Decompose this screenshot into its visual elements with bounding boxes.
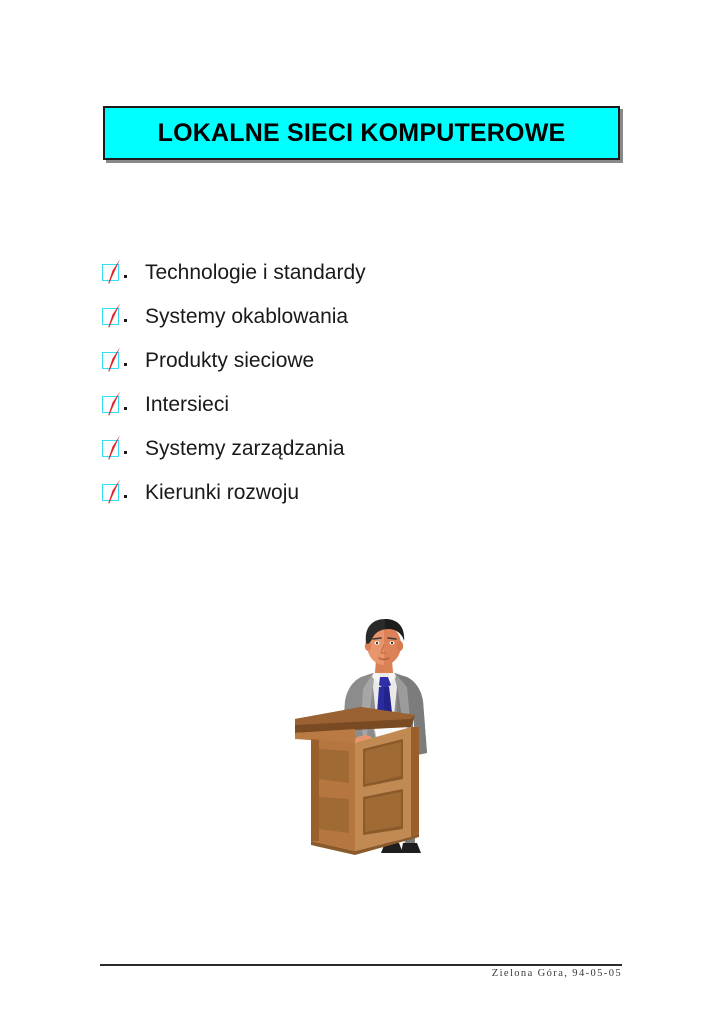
check-mark-icon xyxy=(100,302,126,332)
agenda-item-label: Kierunki rozwoju xyxy=(145,478,299,507)
check-mark-icon xyxy=(100,478,126,508)
list-item: Kierunki rozwoju xyxy=(100,478,620,522)
bullet-period xyxy=(124,495,127,498)
check-mark-icon xyxy=(100,258,126,288)
page-title: LOKALNE SIECI KOMPUTEROWE xyxy=(158,121,566,146)
agenda-item-label: Systemy zarządzania xyxy=(145,434,345,463)
list-item: Technologie i standardy xyxy=(100,258,620,302)
agenda-item-label: Systemy okablowania xyxy=(145,302,348,331)
bullet-period xyxy=(124,407,127,410)
checkbox-check-icon xyxy=(100,434,145,464)
agenda-list: Technologie i standardy Systemy okablowa… xyxy=(100,258,620,522)
footer-location-date: Zielona Góra, 94-05-05 xyxy=(100,968,622,979)
bullet-period xyxy=(124,319,127,322)
agenda-item-label: Intersieci xyxy=(145,390,229,419)
checkbox-check-icon xyxy=(100,478,145,508)
checkbox-check-icon xyxy=(100,346,145,376)
list-item: Produkty sieciowe xyxy=(100,346,620,390)
agenda-item-label: Technologie i standardy xyxy=(145,258,366,287)
list-item: Intersieci xyxy=(100,390,620,434)
bullet-period xyxy=(124,275,127,278)
slide-page: { "page": { "background_color": "#FFFFFF… xyxy=(0,0,724,1024)
check-mark-icon xyxy=(100,346,126,376)
checkbox-check-icon xyxy=(100,390,145,420)
check-mark-icon xyxy=(100,390,126,420)
bullet-period xyxy=(124,451,127,454)
footer-divider xyxy=(100,964,622,966)
slide-title-banner: LOKALNE SIECI KOMPUTEROWE xyxy=(103,106,620,160)
checkbox-check-icon xyxy=(100,302,145,332)
agenda-item-label: Produkty sieciowe xyxy=(145,346,314,375)
list-item: Systemy okablowania xyxy=(100,302,620,346)
speaker-at-podium-clipart xyxy=(293,615,443,877)
list-item: Systemy zarządzania xyxy=(100,434,620,478)
bullet-period xyxy=(124,363,127,366)
checkbox-check-icon xyxy=(100,258,145,288)
check-mark-icon xyxy=(100,434,126,464)
